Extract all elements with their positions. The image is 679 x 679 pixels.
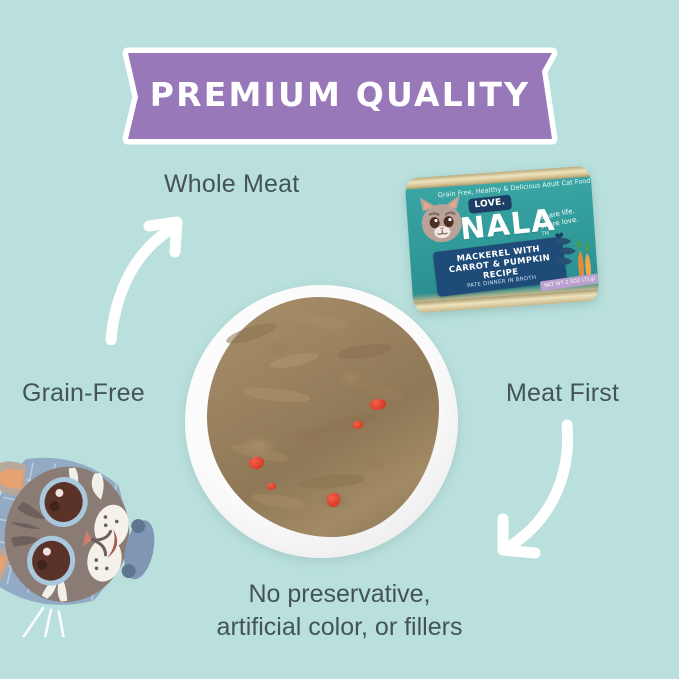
feature-label-whole-meat: Whole Meat (164, 170, 299, 199)
feature-label-grain-free: Grain-Free (22, 379, 145, 408)
plate-of-cat-food (185, 285, 458, 558)
premium-quality-banner: Premium Quality (118, 47, 562, 145)
can-body: Grain Free, Healthy & Delicious Adult Ca… (405, 166, 600, 314)
nala-cat-mascot (0, 432, 160, 637)
banner-title: Premium Quality (118, 47, 562, 145)
feature-label-meat-first: Meat First (506, 379, 619, 408)
product-can: Grain Free, Healthy & Delicious Adult Ca… (405, 166, 600, 314)
premium-quality-infographic: Premium Quality Whole Meat Grain-Free Me… (0, 0, 679, 679)
curved-arrow-up-right-icon (105, 200, 220, 345)
can-trademark-symbol: TM (542, 231, 550, 237)
pate-food-mound (207, 297, 439, 537)
curved-arrow-down-left-icon (455, 415, 580, 570)
